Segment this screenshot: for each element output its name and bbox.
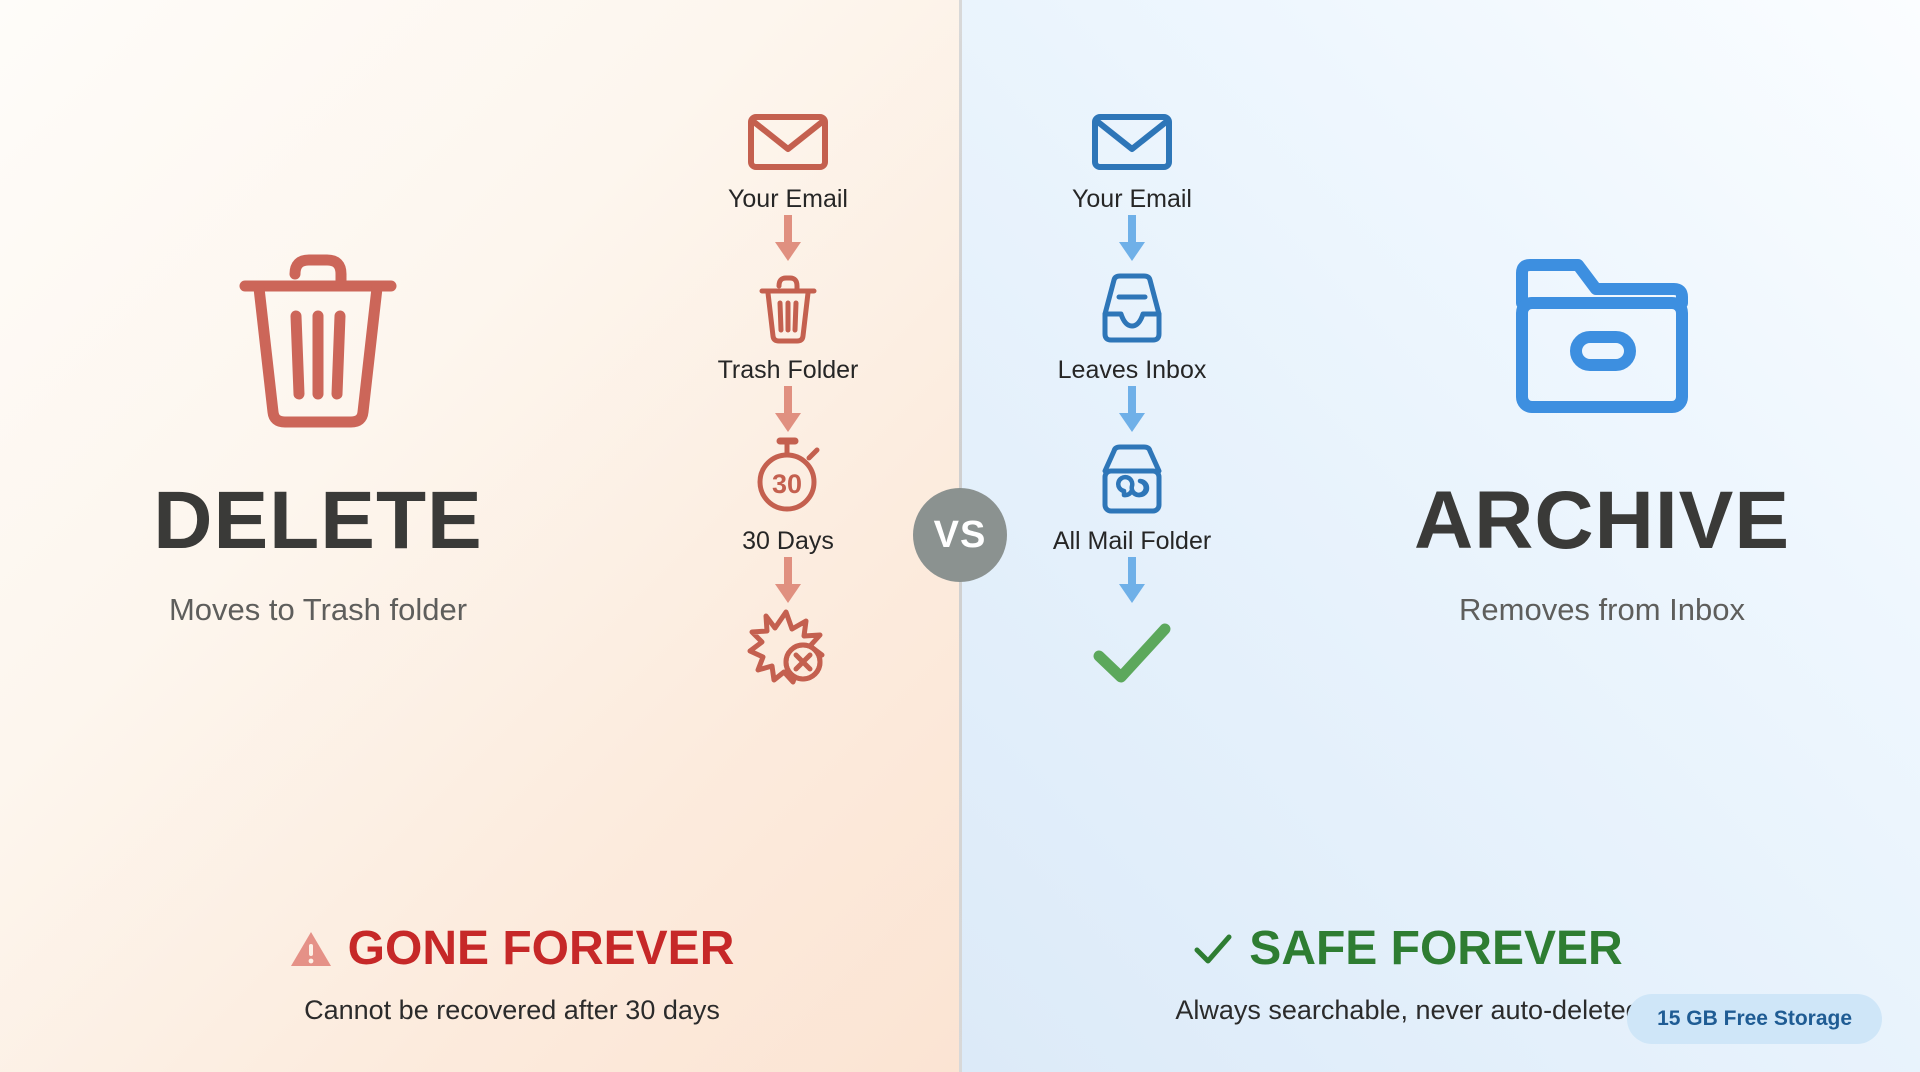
flow-label: Leaves Inbox xyxy=(1058,356,1207,385)
vs-label: VS xyxy=(934,514,987,557)
flow-step-safe xyxy=(1090,608,1174,686)
flow-arrow-down-icon xyxy=(771,214,805,266)
delete-title: DELETE xyxy=(8,480,628,562)
envelope-icon xyxy=(747,95,829,173)
flow-label: All Mail Folder xyxy=(1053,527,1211,556)
archive-panel: ARCHIVE Removes from Inbox Your Email xyxy=(960,0,1920,1072)
flow-arrow-down-icon xyxy=(771,385,805,437)
flow-step-30-days: 30 30 Days xyxy=(742,437,834,556)
all-mail-infinity-box-icon xyxy=(1091,437,1173,515)
vs-badge: VS xyxy=(913,488,1007,582)
verdict-headline-text: SAFE FOREVER xyxy=(1249,925,1622,973)
flow-arrow-down-icon xyxy=(1115,556,1149,608)
flow-arrow-down-icon xyxy=(1115,385,1149,437)
flow-arrow-down-icon xyxy=(1115,214,1149,266)
safe-forever-headline: SAFE FOREVER xyxy=(978,925,1838,973)
flow-step-your-email: Your Email xyxy=(728,95,848,214)
delete-verdict: GONE FOREVER Cannot be recovered after 3… xyxy=(82,925,942,1026)
checkmark-icon xyxy=(1193,932,1233,966)
flow-label: Trash Folder xyxy=(718,356,859,385)
flow-step-your-email: Your Email xyxy=(1072,95,1192,214)
flow-step-trash-folder: Trash Folder xyxy=(718,266,859,385)
delete-hero: DELETE Moves to Trash folder xyxy=(8,236,628,628)
archive-subtitle: Removes from Inbox xyxy=(1292,592,1912,628)
gone-forever-headline: GONE FOREVER xyxy=(82,925,942,973)
delete-flow: Your Email xyxy=(638,95,938,686)
flow-label: Your Email xyxy=(728,185,848,214)
verdict-subtext: Cannot be recovered after 30 days xyxy=(82,995,942,1026)
verdict-headline-text: GONE FOREVER xyxy=(348,925,735,973)
delete-vs-archive-infographic: DELETE Moves to Trash folder Your Email xyxy=(0,0,1920,1072)
trash-can-icon xyxy=(757,266,819,344)
inbox-tray-icon xyxy=(1091,266,1173,344)
explosion-destroyed-icon xyxy=(746,608,830,686)
flow-step-leaves-inbox: Leaves Inbox xyxy=(1058,266,1207,385)
archive-folder-icon xyxy=(1292,236,1912,436)
warning-triangle-icon xyxy=(290,930,332,968)
archive-hero: ARCHIVE Removes from Inbox xyxy=(1292,236,1912,628)
flow-label: 30 Days xyxy=(742,527,834,556)
svg-text:30: 30 xyxy=(772,469,802,499)
delete-subtitle: Moves to Trash folder xyxy=(8,592,628,628)
flow-label: Your Email xyxy=(1072,185,1192,214)
delete-panel: DELETE Moves to Trash folder Your Email xyxy=(0,0,960,1072)
archive-title: ARCHIVE xyxy=(1292,480,1912,562)
trash-can-icon xyxy=(8,236,628,436)
envelope-icon xyxy=(1091,95,1173,173)
stopwatch-30-icon: 30 xyxy=(749,437,827,515)
green-checkmark-icon xyxy=(1090,608,1174,686)
flow-arrow-down-icon xyxy=(771,556,805,608)
storage-badge: 15 GB Free Storage xyxy=(1627,994,1882,1044)
flow-step-destroyed xyxy=(746,608,830,686)
archive-flow: Your Email Leaves Inbox xyxy=(982,95,1282,686)
flow-step-all-mail-folder: All Mail Folder xyxy=(1053,437,1211,556)
